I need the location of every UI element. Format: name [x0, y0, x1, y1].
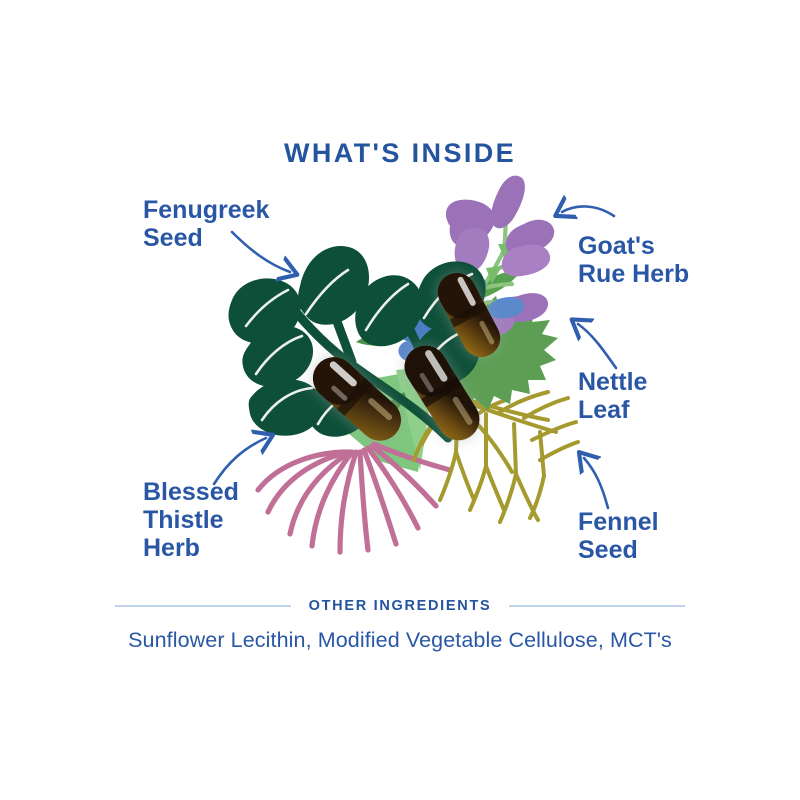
label-fenugreek-seed: Fenugreek Seed [143, 196, 269, 252]
label-goats-rue-herb: Goat's Rue Herb [578, 232, 689, 288]
thistle-flower-icon [258, 444, 450, 552]
arrow-goats-rue-icon [562, 206, 614, 216]
other-ingredients-list: Sunflower Lecithin, Modified Vegetable C… [0, 628, 800, 653]
ingredients-illustration [0, 0, 800, 800]
label-blessed-thistle-herb: Blessed Thistle Herb [143, 478, 239, 562]
infographic-canvas: WHAT'S INSIDE [0, 0, 800, 800]
label-fennel-seed: Fennel Seed [578, 508, 659, 564]
arrow-fennel-icon [584, 458, 608, 508]
arrow-nettle-icon [578, 324, 616, 368]
other-ingredients-heading: OTHER INGREDIENTS [309, 598, 492, 614]
divider-row: OTHER INGREDIENTS [115, 598, 685, 614]
label-nettle-leaf: Nettle Leaf [578, 368, 647, 424]
divider-left [115, 605, 291, 607]
other-ingredients-section: OTHER INGREDIENTS Sunflower Lecithin, Mo… [0, 598, 800, 653]
divider-right [509, 605, 685, 607]
